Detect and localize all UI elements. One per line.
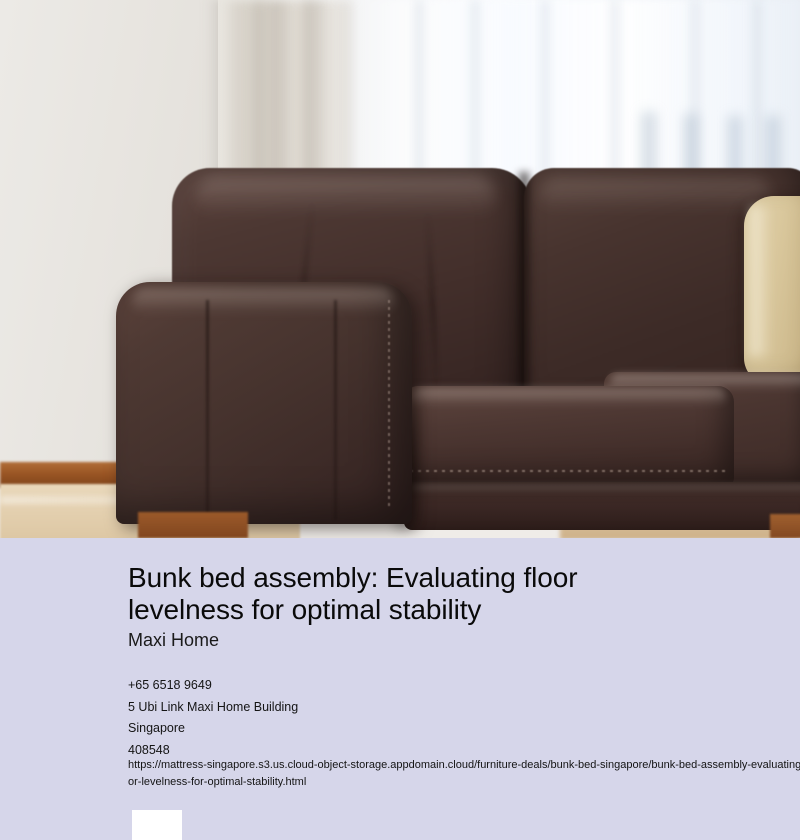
arm-seam bbox=[206, 300, 209, 520]
pillow-highlight bbox=[750, 206, 772, 356]
contact-block: +65 6518 9649 5 Ubi Link Maxi Home Build… bbox=[128, 675, 748, 761]
arm-seam bbox=[334, 300, 337, 520]
hero-photo bbox=[0, 0, 800, 538]
furniture-logo-card[interactable]: Furniture bbox=[132, 810, 182, 840]
arm-stitching bbox=[388, 300, 390, 510]
seat-highlight bbox=[412, 388, 726, 406]
base-rail-highlight bbox=[410, 484, 800, 494]
page-title: Bunk bed assembly: Evaluating floor leve… bbox=[128, 562, 688, 627]
sofa-foot-left bbox=[138, 512, 248, 538]
sofa-arm bbox=[116, 282, 412, 524]
contact-address: 5 Ubi Link Maxi Home Building bbox=[128, 697, 748, 719]
backrest-highlight bbox=[540, 178, 770, 212]
seat-stitching bbox=[410, 470, 730, 472]
contact-city: Singapore bbox=[128, 718, 748, 740]
arm-highlight bbox=[132, 288, 394, 314]
company-name: Maxi Home bbox=[128, 630, 219, 651]
page-url[interactable]: https://mattress-singapore.s3.us.cloud-o… bbox=[128, 757, 800, 791]
contact-phone[interactable]: +65 6518 9649 bbox=[128, 675, 748, 697]
page-root: Bunk bed assembly: Evaluating floor leve… bbox=[0, 0, 800, 840]
content-panel: Bunk bed assembly: Evaluating floor leve… bbox=[0, 538, 800, 840]
sofa-foot-right bbox=[770, 514, 800, 538]
backrest-highlight bbox=[196, 176, 496, 216]
cushion-gap-shadow bbox=[516, 172, 532, 422]
